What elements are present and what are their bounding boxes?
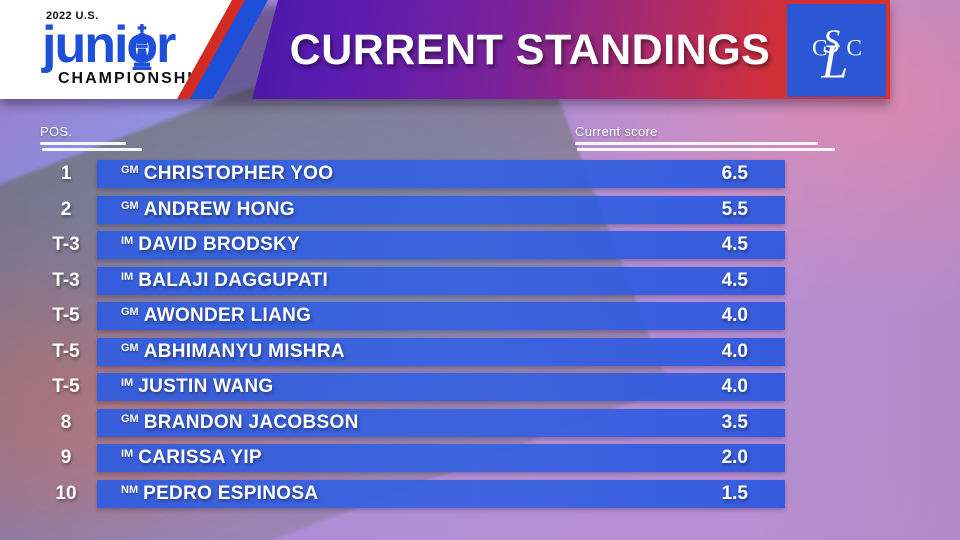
row-player-title: GM	[121, 200, 139, 212]
cslc-monogram-icon: C C S L	[787, 4, 886, 97]
row-score: 4.0	[722, 305, 748, 327]
row-position: T-3	[40, 231, 92, 259]
row-bar[interactable]: GMBRANDON JACOBSON3.5	[97, 409, 785, 437]
row-bar[interactable]: GMABHIMANYU MISHRA4.0	[97, 338, 785, 366]
row-position: 9	[40, 444, 92, 472]
row-score: 3.5	[722, 412, 748, 434]
row-position: 10	[40, 480, 92, 508]
row-player-name: BRANDON JACOBSON	[144, 412, 359, 434]
column-header-score: Current score	[575, 124, 835, 151]
row-player-title: IM	[121, 271, 133, 283]
row-bar[interactable]: NMPEDRO ESPINOSA1.5	[97, 480, 785, 508]
row-bar[interactable]: IMBALAJI DAGGUPATI4.5	[97, 267, 785, 295]
table-row[interactable]: T-5GMAWONDER LIANG4.0	[0, 302, 960, 338]
row-position: T-3	[40, 267, 92, 295]
column-header-position: POS.	[40, 124, 142, 151]
row-player-name: DAVID BRODSKY	[138, 234, 300, 256]
row-bar[interactable]: IMDAVID BRODSKY4.5	[97, 231, 785, 259]
row-player-title: NM	[121, 484, 138, 496]
row-position: 1	[40, 160, 92, 188]
row-bar[interactable]: GMAWONDER LIANG4.0	[97, 302, 785, 330]
column-header-position-label: POS.	[40, 124, 142, 139]
row-player-title: IM	[121, 377, 133, 389]
row-score: 6.5	[722, 163, 748, 185]
row-player-name: BALAJI DAGGUPATI	[138, 270, 328, 292]
row-player-title: IM	[121, 448, 133, 460]
row-score: 4.5	[722, 270, 748, 292]
svg-text:C: C	[846, 35, 862, 61]
table-row[interactable]: 8GMBRANDON JACOBSON3.5	[0, 409, 960, 445]
row-player-name: JUSTIN WANG	[138, 376, 273, 398]
row-position: T-5	[40, 373, 92, 401]
row-player-name: CHRISTOPHER YOO	[144, 163, 334, 185]
row-player-name: ANDREW HONG	[144, 199, 295, 221]
row-bar[interactable]: IMJUSTIN WANG4.0	[97, 373, 785, 401]
page-title: CURRENT STANDINGS	[270, 19, 790, 81]
svg-text:L: L	[820, 35, 848, 86]
score-underline	[575, 142, 835, 151]
table-row[interactable]: 10NMPEDRO ESPINOSA1.5	[0, 480, 960, 516]
row-position: T-5	[40, 302, 92, 330]
row-bar[interactable]: GMANDREW HONG5.5	[97, 196, 785, 224]
position-underline	[40, 142, 142, 151]
table-row[interactable]: 9IMCARISSA YIP2.0	[0, 444, 960, 480]
logo-junior-text: junior	[42, 19, 174, 71]
row-bar[interactable]: GMCHRISTOPHER YOO6.5	[97, 160, 785, 188]
table-row[interactable]: T-3IMDAVID BRODSKY4.5	[0, 231, 960, 267]
row-player-name: AWONDER LIANG	[144, 305, 312, 327]
row-player-title: GM	[121, 413, 139, 425]
table-row[interactable]: 2GMANDREW HONG5.5	[0, 196, 960, 232]
standings-list: 1GMCHRISTOPHER YOO6.52GMANDREW HONG5.5T-…	[0, 160, 960, 515]
row-score: 1.5	[722, 483, 748, 505]
row-score: 4.0	[722, 341, 748, 363]
row-player-title: IM	[121, 235, 133, 247]
row-score: 4.5	[722, 234, 748, 256]
row-player-name: ABHIMANYU MISHRA	[144, 341, 345, 363]
row-player-name: PEDRO ESPINOSA	[143, 483, 318, 505]
table-row[interactable]: T-5IMJUSTIN WANG4.0	[0, 373, 960, 409]
row-player-title: GM	[121, 342, 139, 354]
row-player-title: GM	[121, 306, 139, 318]
table-row[interactable]: 1GMCHRISTOPHER YOO6.5	[0, 160, 960, 196]
row-position: 2	[40, 196, 92, 224]
row-score: 5.5	[722, 199, 748, 221]
row-position: T-5	[40, 338, 92, 366]
row-bar[interactable]: IMCARISSA YIP2.0	[97, 444, 785, 472]
logo-championship-text: CHAMPIONSHIP	[58, 70, 206, 88]
chess-king-icon	[131, 24, 153, 70]
row-position: 8	[40, 409, 92, 437]
row-player-title: GM	[121, 164, 139, 176]
row-score: 4.0	[722, 376, 748, 398]
table-row[interactable]: T-3IMBALAJI DAGGUPATI4.5	[0, 267, 960, 303]
header-banner: 2022 U.S. junior CHAMPIONSHIP CURRENT ST…	[0, 0, 890, 99]
table-row[interactable]: T-5GMABHIMANYU MISHRA4.0	[0, 338, 960, 374]
row-player-name: CARISSA YIP	[138, 447, 262, 469]
row-score: 2.0	[722, 447, 748, 469]
column-header-score-label: Current score	[575, 124, 835, 139]
